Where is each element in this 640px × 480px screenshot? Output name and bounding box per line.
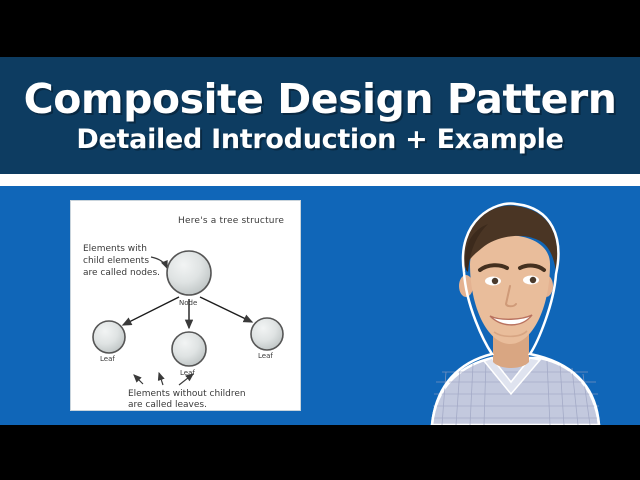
leaf-note-line-1: Elements without children xyxy=(128,389,246,399)
tree-node-root xyxy=(167,251,211,295)
letterbox-bar-bottom xyxy=(0,425,640,480)
diagram-card: Here's a tree structure Elements with ch… xyxy=(70,200,301,411)
tree-node-leaf-middle xyxy=(172,332,206,366)
node-note-arrow-icon xyxy=(151,257,167,268)
presenter-pupil-left xyxy=(492,278,498,284)
edge-root-to-leaf-right xyxy=(200,297,252,322)
letterbox-bar-top xyxy=(0,0,640,57)
node-note-line-1: Elements with xyxy=(83,244,147,254)
content-stage: Here's a tree structure Elements with ch… xyxy=(0,186,640,425)
diagram-title-note: Here's a tree structure xyxy=(178,216,284,226)
page-subtitle: Detailed Introduction + Example xyxy=(76,124,563,156)
tree-node-leaf-middle-label: Leaf xyxy=(180,369,195,377)
leaf-note-arrow-middle-icon xyxy=(159,373,163,385)
presenter-portrait xyxy=(380,186,640,425)
video-frame: Composite Design Pattern Detailed Introd… xyxy=(0,0,640,480)
leaf-note-line-2: are called leaves. xyxy=(128,400,207,410)
tree-node-leaf-left xyxy=(93,321,125,353)
tree-diagram: Here's a tree structure Elements with ch… xyxy=(71,201,300,410)
page-title: Composite Design Pattern xyxy=(24,76,617,122)
leaf-note-arrow-left-icon xyxy=(134,375,143,384)
title-banner: Composite Design Pattern Detailed Introd… xyxy=(0,57,640,174)
presenter-figure xyxy=(380,186,640,425)
tree-node-root-label: Node xyxy=(179,299,197,307)
tree-node-leaf-left-label: Leaf xyxy=(100,355,115,363)
edge-root-to-leaf-left xyxy=(123,297,179,325)
tree-node-leaf-right xyxy=(251,318,283,350)
presenter-pupil-right xyxy=(530,277,536,283)
tree-node-leaf-right-label: Leaf xyxy=(258,352,273,360)
node-note-line-2: child elements xyxy=(83,256,149,266)
node-note-line-3: are called nodes. xyxy=(83,268,160,278)
banner-divider xyxy=(0,174,640,186)
